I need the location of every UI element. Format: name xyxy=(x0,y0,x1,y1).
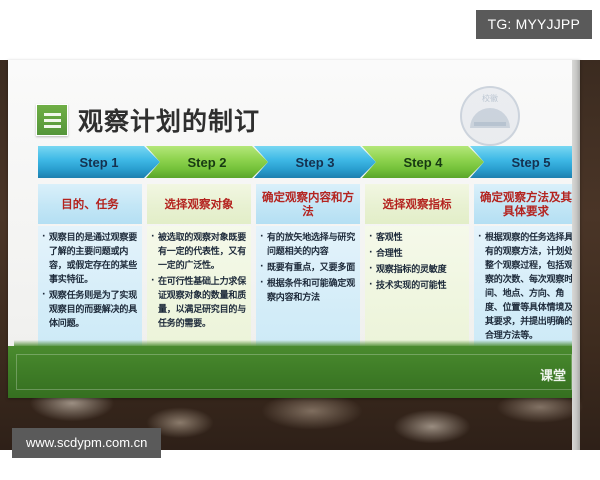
step-arrow-label: Step 1 xyxy=(79,155,118,170)
step-header-1: 目的、任务 xyxy=(38,184,142,224)
step-header-label: 确定观察方法及其具体要求 xyxy=(477,190,575,219)
slide-title-row: 观察计划的制订 xyxy=(36,102,260,138)
list-item: 有的放矢地选择与研究问题相关的内容 xyxy=(260,232,355,260)
step-arrow-2: Step 2 xyxy=(146,146,268,178)
step-header-2: 选择观察对象 xyxy=(147,184,251,224)
step-arrow-label: Step 3 xyxy=(295,155,334,170)
slide-title: 观察计划的制订 xyxy=(78,102,260,138)
step-header-label: 选择观察对象 xyxy=(165,197,234,211)
step-arrow-4: Step 4 xyxy=(362,146,484,178)
list-item: 观察指标的灵敏度 xyxy=(369,264,464,278)
bullet-list: 有的放矢地选择与研究问题相关的内容既要有重点，又要多面根据条件和可能确定观察内容… xyxy=(260,232,355,306)
step-header-3: 确定观察内容和方法 xyxy=(256,184,360,224)
bullet-list: 被选取的观察对象既要有一定的代表性，又有一定的广泛性。在可行性基础上力求保证观察… xyxy=(151,232,246,332)
list-item: 观察目的是通过观察要了解的主要问题或内容，或假定存在的某些事实特征。 xyxy=(42,232,137,288)
list-item: 客观性 xyxy=(369,232,464,246)
step-arrow-label: Step 5 xyxy=(511,155,550,170)
step-header-4: 选择观察指标 xyxy=(365,184,469,224)
step-arrow-5: Step 5 xyxy=(470,146,580,178)
slide-canvas: 校徽 观察计划的制订 Step 1Step 2Step 3Step 4Step … xyxy=(8,60,580,398)
telegram-tag-badge: TG: MYYJJPP xyxy=(476,10,592,39)
bullet-list: 根据观察的任务选择具有的观察方法，计划处整个观察过程，包括观察的次数、每次观察时… xyxy=(478,232,573,344)
list-item: 观察任务则是为了实现观察目的而要解决的具体问题。 xyxy=(42,290,137,332)
step-arrow-label: Step 2 xyxy=(187,155,226,170)
list-item: 在可行性基础上力求保证观察对象的数量和质量，以满足研究目的与任务的需要。 xyxy=(151,276,246,332)
bullet-list: 观察目的是通过观察要了解的主要问题或内容，或假定存在的某些事实特征。观察任务则是… xyxy=(42,232,137,332)
slide-right-edge xyxy=(572,60,580,450)
step-header-5: 确定观察方法及其具体要求 xyxy=(474,184,578,224)
step-header-label: 目的、任务 xyxy=(61,197,119,211)
list-item: 被选取的观察对象既要有一定的代表性，又有一定的广泛性。 xyxy=(151,232,246,274)
step-arrow-1: Step 1 xyxy=(38,146,160,178)
bullet-list: 客观性合理性观察指标的灵敏度技术实现的可能性 xyxy=(369,232,464,294)
step-arrow-label: Step 4 xyxy=(403,155,442,170)
university-seal-watermark-icon: 校徽 xyxy=(460,86,520,146)
slide-bottom-frame xyxy=(8,346,580,398)
list-item: 根据观察的任务选择具有的观察方法，计划处整个观察过程，包括观察的次数、每次观察时… xyxy=(478,232,573,344)
seal-bar xyxy=(474,122,506,126)
list-item: 根据条件和可能确定观察内容和方法 xyxy=(260,278,355,306)
step-header-row: 目的、任务选择观察对象确定观察内容和方法选择观察指标确定观察方法及其具体要求 xyxy=(38,184,578,224)
step-header-label: 选择观察指标 xyxy=(383,197,452,211)
step-arrow-3: Step 3 xyxy=(254,146,376,178)
list-item: 合理性 xyxy=(369,248,464,262)
three-lines-icon xyxy=(36,104,68,136)
step-header-label: 确定观察内容和方法 xyxy=(259,190,357,219)
presentation-slide: 校徽 观察计划的制订 Step 1Step 2Step 3Step 4Step … xyxy=(8,60,580,398)
seal-label: 校徽 xyxy=(462,93,518,104)
list-item: 技术实现的可能性 xyxy=(369,280,464,294)
list-item: 既要有重点，又要多面 xyxy=(260,262,355,276)
site-url-badge: www.scdypm.com.cn xyxy=(12,428,161,458)
step-arrow-row: Step 1Step 2Step 3Step 4Step 5 xyxy=(38,146,578,178)
classroom-watermark: 课堂 xyxy=(540,365,566,384)
